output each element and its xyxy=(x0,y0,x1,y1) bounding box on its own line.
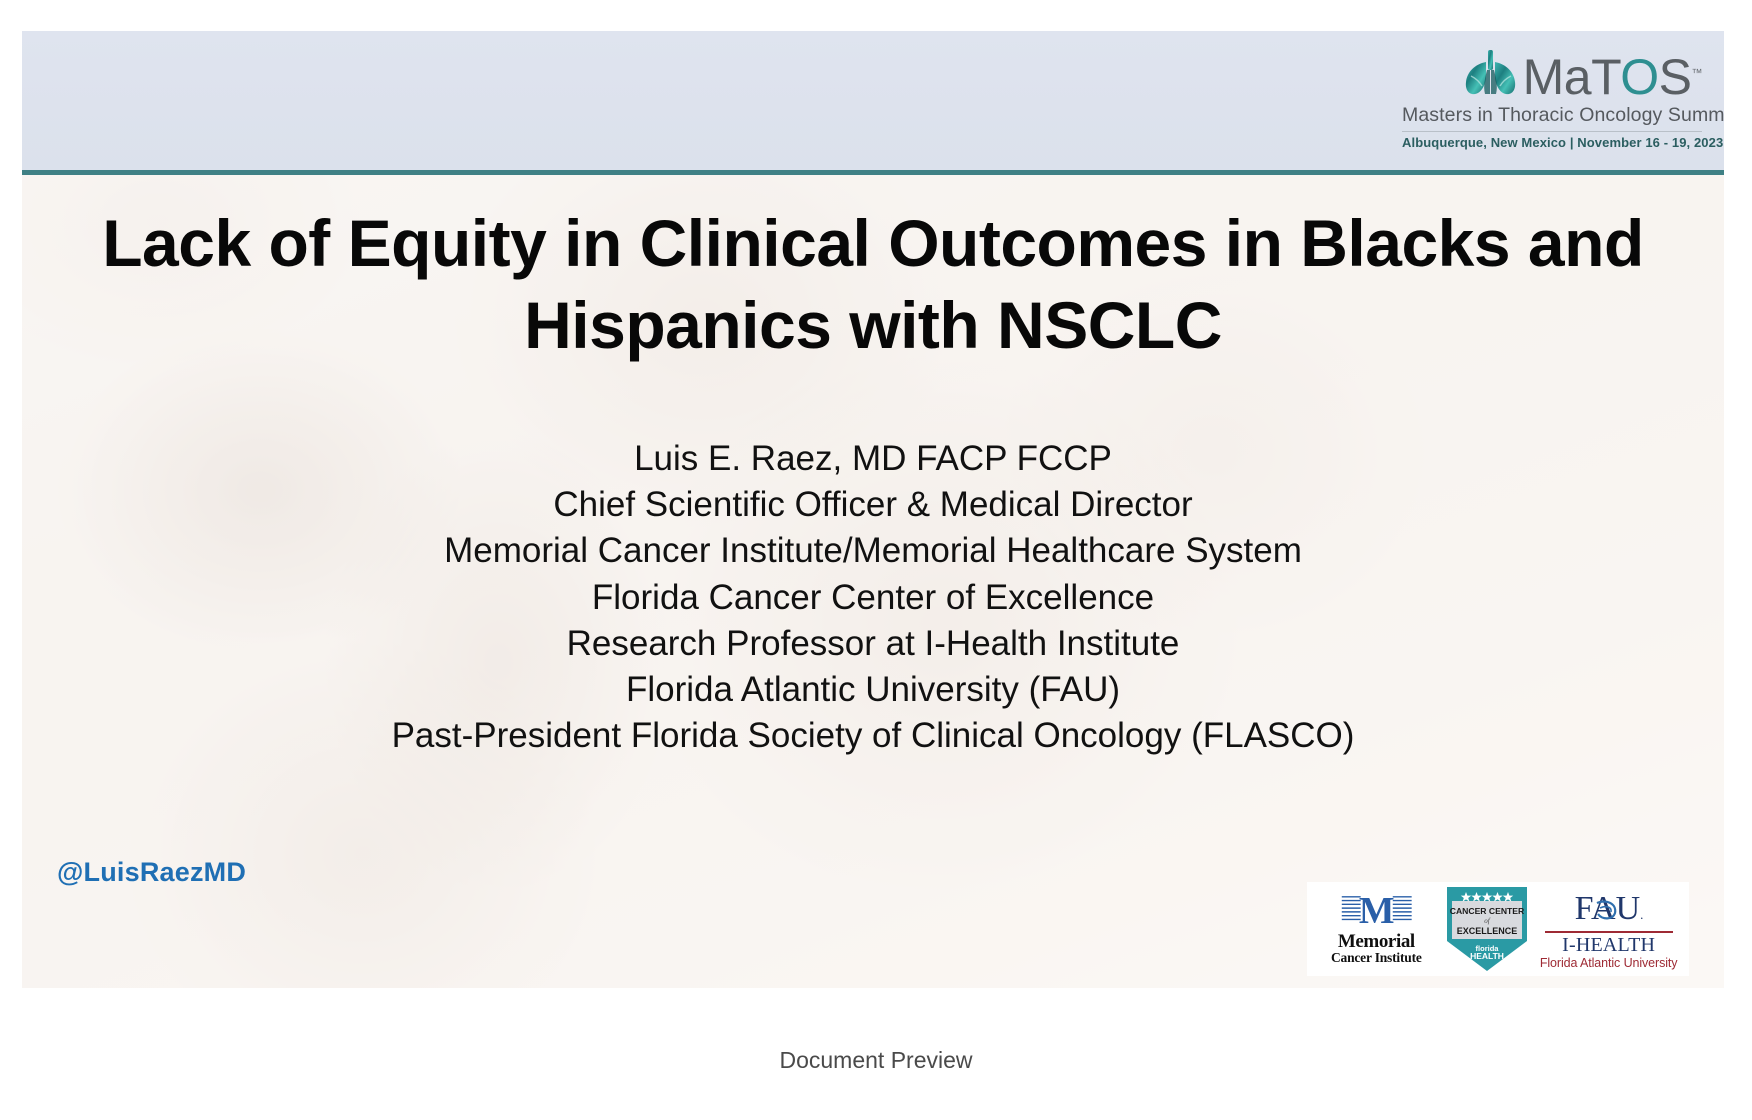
byline-line: Florida Atlantic University (FAU) xyxy=(82,667,1664,713)
document-preview-page: MaTOS™ Masters in Thoracic Oncology Summ… xyxy=(0,0,1752,1120)
byline-line: Chief Scientific Officer & Medical Direc… xyxy=(82,482,1664,528)
matos-logo-wordrow: MaTOS™ xyxy=(1402,40,1702,102)
svg-text:M: M xyxy=(1359,893,1395,927)
matos-logo: MaTOS™ Masters in Thoracic Oncology Summ… xyxy=(1402,40,1702,150)
matos-wordmark: MaTOS™ xyxy=(1523,52,1702,102)
sponsor-logo-strip: M Memorial Cancer Institute CANCER CENTE… xyxy=(1307,882,1689,976)
cancer-center-excellence-badge-icon: CANCER CENTER of EXCELLENCE florida HEAL… xyxy=(1444,885,1530,973)
byline-line: Florida Cancer Center of Excellence xyxy=(82,575,1664,621)
slide-byline: Luis E. Raez, MD FACP FCCP Chief Scienti… xyxy=(82,436,1664,759)
fau-mark-icon: FAU. xyxy=(1539,889,1679,925)
slide-title: Lack of Equity in Clinical Outcomes in B… xyxy=(82,203,1664,367)
matos-date-location: Albuquerque, New Mexico | November 16 - … xyxy=(1402,135,1702,150)
memorial-logo-subtitle: Cancer Institute xyxy=(1317,951,1435,965)
matos-wordmark-o: O xyxy=(1620,49,1658,105)
cce-line1: CANCER CENTER xyxy=(1450,906,1525,916)
presentation-slide: MaTOS™ Masters in Thoracic Oncology Summ… xyxy=(22,31,1724,988)
trademark-icon: ™ xyxy=(1692,67,1703,79)
memorial-cancer-institute-logo: M Memorial Cancer Institute xyxy=(1317,893,1435,965)
fau-divider xyxy=(1545,931,1673,933)
document-preview-caption: Document Preview xyxy=(0,1047,1752,1074)
memorial-m-icon: M xyxy=(1321,893,1432,927)
svg-text:HEALTH: HEALTH xyxy=(1470,951,1504,961)
fau-university-label: Florida Atlantic University xyxy=(1539,957,1679,970)
byline-line: Luis E. Raez, MD FACP FCCP xyxy=(82,436,1664,482)
social-handle: @LuisRaezMD xyxy=(57,857,246,888)
byline-line: Memorial Cancer Institute/Memorial Healt… xyxy=(82,528,1664,574)
memorial-logo-name: Memorial xyxy=(1317,932,1435,951)
fau-ihealth-logo: FAU. I-HEALTH Florida Atlantic Universit… xyxy=(1539,889,1679,970)
fau-ihealth-label: I-HEALTH xyxy=(1539,935,1679,955)
slide-header-band: MaTOS™ Masters in Thoracic Oncology Summ… xyxy=(22,31,1724,175)
lungs-icon xyxy=(1463,48,1519,100)
matos-tagline: Masters in Thoracic Oncology Summit xyxy=(1402,104,1702,127)
matos-wordmark-s: S xyxy=(1659,49,1692,105)
byline-line: Past-President Florida Society of Clinic… xyxy=(82,713,1664,759)
matos-wordmark-mat: MaT xyxy=(1523,49,1621,105)
byline-line: Research Professor at I-Health Institute xyxy=(82,621,1664,667)
svg-text:EXCELLENCE: EXCELLENCE xyxy=(1457,926,1518,936)
matos-divider xyxy=(1402,131,1702,132)
